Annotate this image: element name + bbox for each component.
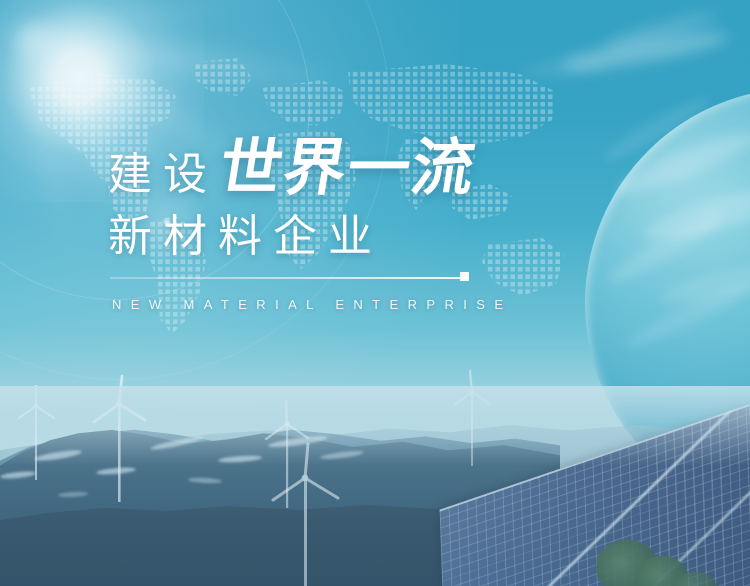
banner-content: 建设 世界一流 新材料企业 NEW MATERIAL ENTERPRISE	[0, 0, 750, 586]
headline-line-2: 新材料企业	[108, 215, 383, 259]
divider-end-marker	[460, 272, 469, 281]
subtitle-text: NEW MATERIAL ENTERPRISE	[112, 298, 512, 311]
headline-plain-text: 建设	[108, 153, 218, 197]
hero-banner: 建设 世界一流 新材料企业 NEW MATERIAL ENTERPRISE	[0, 0, 750, 586]
headline-line-1: 建设 世界一流	[108, 137, 476, 199]
divider-line	[110, 277, 468, 279]
headline-accent-text: 世界一流	[215, 137, 481, 199]
